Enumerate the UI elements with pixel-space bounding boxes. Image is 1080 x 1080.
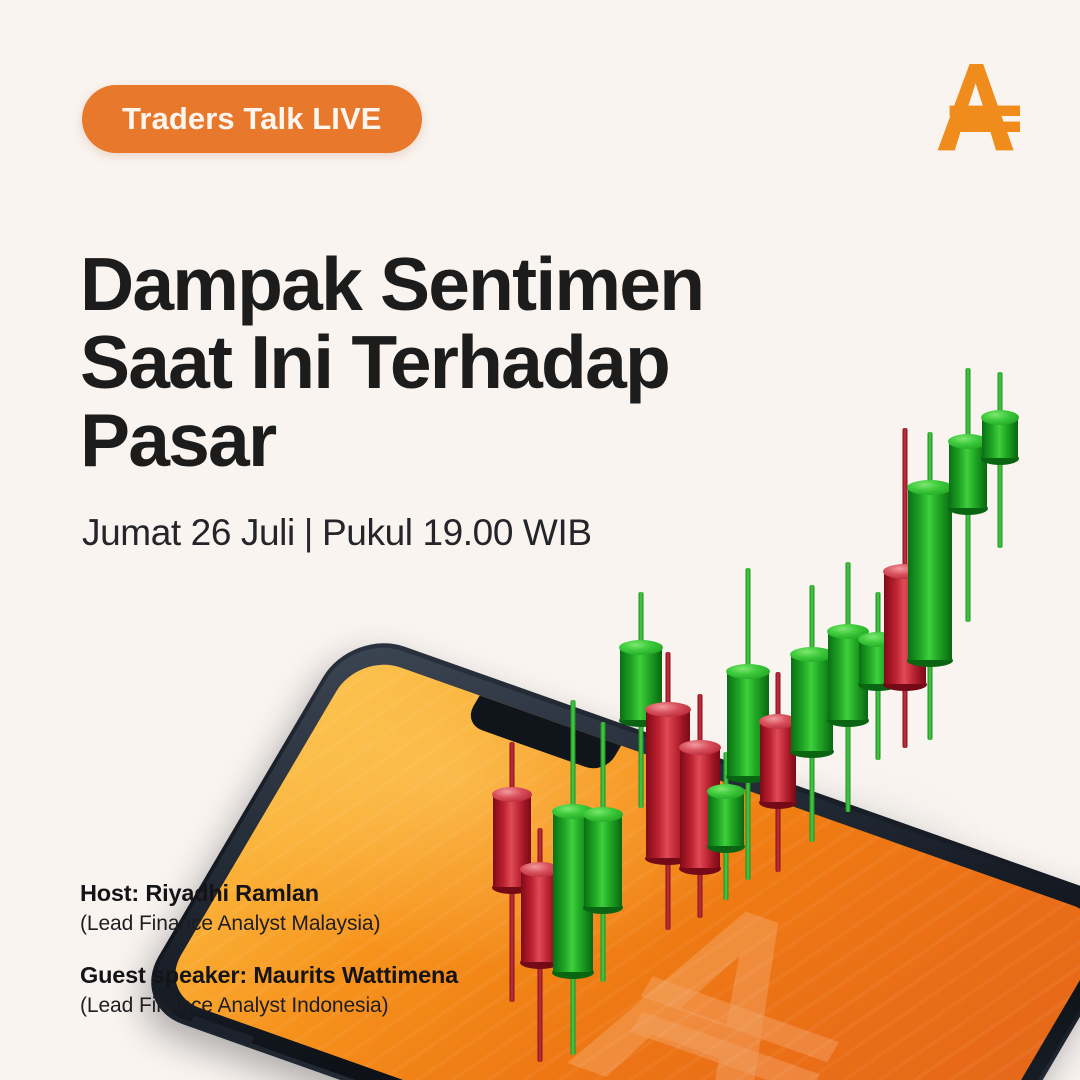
candle-body-side	[908, 488, 952, 660]
candle-body-bottom	[827, 714, 869, 727]
candle-body-top	[883, 564, 927, 579]
candle-body	[859, 640, 897, 684]
schedule-separator: |	[295, 512, 322, 553]
candle-body-side	[828, 632, 868, 720]
candle-body-side	[949, 442, 987, 508]
candle-wick	[846, 562, 851, 812]
candle-body-side	[727, 672, 769, 776]
candle-wick	[903, 428, 908, 748]
candle-body-side	[791, 655, 833, 751]
credits-block: Host: Riyadhi Ramlan (Lead Finance Analy…	[80, 880, 600, 1018]
candle-body-side	[859, 640, 897, 684]
candle-body	[727, 672, 769, 776]
candle-body-bottom	[907, 654, 953, 667]
candle-wick	[998, 372, 1003, 548]
headline-line-3: Pasar	[80, 402, 840, 480]
credit-guest-role: (Lead Finance Analyst Indonesia)	[80, 994, 600, 1018]
candle-body-side	[884, 572, 926, 684]
candle-body-bottom	[948, 502, 988, 515]
candle-body-bottom	[790, 745, 834, 758]
candle-body-bottom	[883, 678, 927, 691]
headline-line-2: Saat Ini Terhadap	[80, 324, 840, 402]
candle-body-top	[619, 640, 663, 655]
candle-body-top	[907, 480, 953, 495]
candle-body	[791, 655, 833, 751]
credit-host: Host: Riyadhi Ramlan (Lead Finance Analy…	[80, 880, 600, 936]
candle-body-top	[981, 410, 1019, 425]
credit-host-role: (Lead Finance Analyst Malaysia)	[80, 912, 600, 936]
brand-a-logo-icon	[932, 58, 1028, 158]
credit-host-name: Host: Riyadhi Ramlan	[80, 880, 600, 907]
poster-canvas: Traders Talk LIVE Dampak Sentimen Saat I…	[0, 0, 1080, 1080]
candle-body	[949, 442, 987, 508]
candle-body-top	[858, 632, 898, 647]
live-badge: Traders Talk LIVE	[82, 85, 422, 153]
candle-body-top	[827, 624, 869, 639]
headline-line-1: Dampak Sentimen	[80, 246, 840, 324]
candle-body	[982, 418, 1018, 458]
candle-body-side	[620, 648, 662, 720]
candle-body	[620, 648, 662, 720]
candle-body-bottom	[981, 452, 1019, 465]
credit-guest: Guest speaker: Maurits Wattimena (Lead F…	[80, 962, 600, 1018]
live-badge-label: Traders Talk LIVE	[122, 101, 382, 137]
candle-body	[884, 572, 926, 684]
candle-body-bottom	[858, 678, 898, 691]
candle-wick	[928, 432, 933, 740]
candle-wick	[876, 592, 881, 760]
candle-wick	[966, 368, 971, 622]
schedule-time: Pukul 19.00 WIB	[322, 512, 592, 553]
candle-body-top	[948, 434, 988, 449]
candle-body	[908, 488, 952, 660]
page-title: Dampak Sentimen Saat Ini Terhadap Pasar	[80, 246, 840, 479]
candle-body-top	[645, 702, 691, 717]
candle-body-top	[726, 664, 770, 679]
schedule-line: Jumat 26 Juli|Pukul 19.00 WIB	[82, 512, 592, 554]
schedule-date: Jumat 26 Juli	[82, 512, 295, 553]
candle-body-side	[982, 418, 1018, 458]
candle-body-top	[759, 714, 797, 729]
credit-guest-name: Guest speaker: Maurits Wattimena	[80, 962, 600, 989]
candle-body-top	[790, 647, 834, 662]
candle-body	[828, 632, 868, 720]
